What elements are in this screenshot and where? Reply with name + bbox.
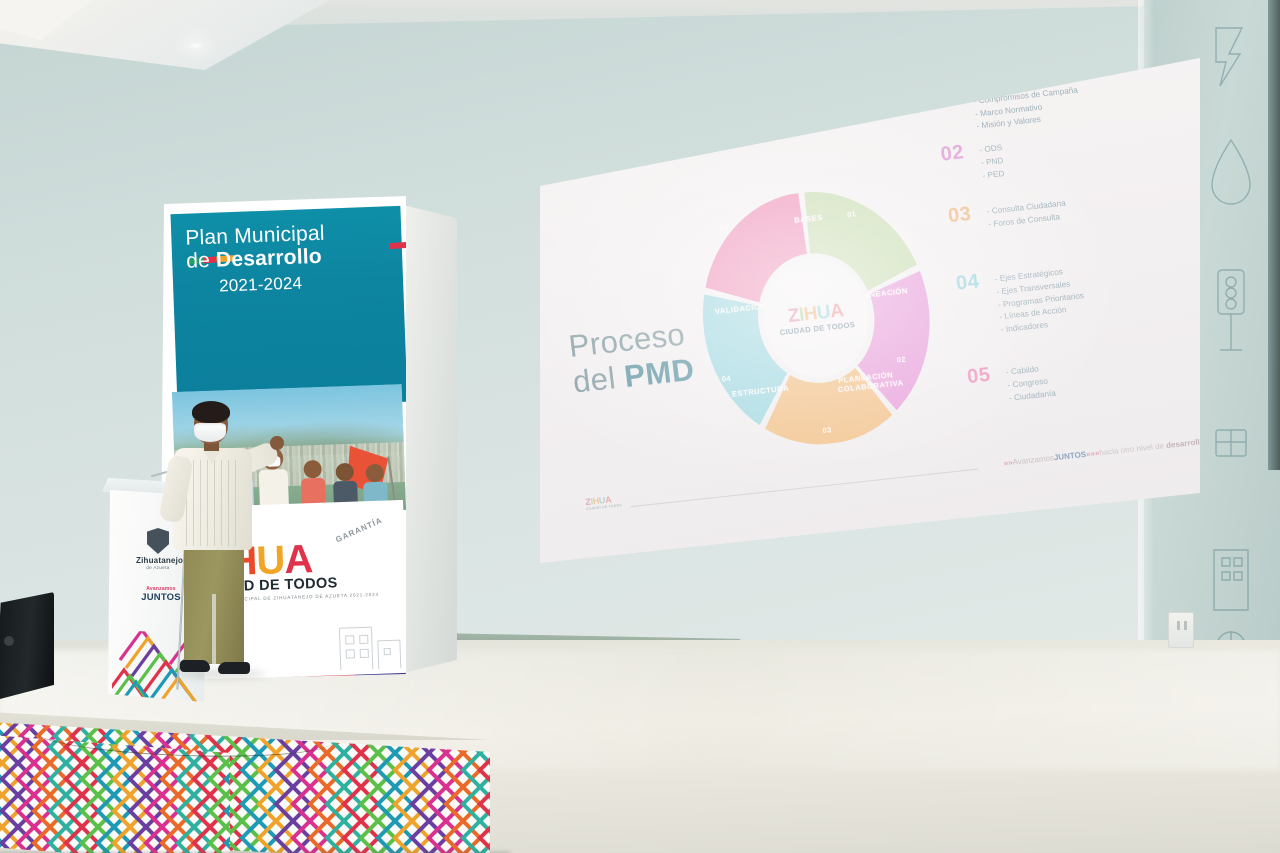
process-step-01: 01DiagnósticoCompromisos de CampañaMarco…: [932, 67, 1082, 138]
slide-title: Proceso del PMD: [567, 316, 696, 401]
process-step-number-02: 02: [939, 141, 968, 167]
footer-avanzamos: Avanzamos: [1012, 453, 1054, 466]
process-step-items-04: Ejes EstratégicosEjes TransversalesProgr…: [994, 259, 1088, 337]
process-step-number-04: 04: [955, 270, 984, 296]
donut-segment-number-02: 02: [896, 355, 906, 365]
banner-title-line2-bold: Desarrollo: [216, 245, 323, 272]
process-step-items-03: Consulta CiudadanaForos de Consulta: [986, 193, 1068, 232]
footer-rule: [630, 469, 978, 508]
process-step-number-05: 05: [966, 363, 995, 389]
speaker-leg-gap: [212, 594, 216, 664]
wordmark-letter: A: [829, 300, 845, 322]
process-step-number-01: 01: [932, 79, 961, 105]
process-step-02: 02ODSPNDPED: [939, 137, 1006, 187]
donut-segment-number-05: 05: [719, 223, 729, 233]
footer-juntos: JUNTOS: [1053, 450, 1086, 462]
slide-title-line2-plain: del: [571, 359, 626, 399]
footer-slogan: »»AvanzamosJUNTOS»»»hacia otro nivel de …: [1003, 437, 1205, 468]
slide-footer: ZIHUA CIUDAD DE TODOS »»AvanzamosJUNTOS»…: [585, 431, 1206, 524]
face-mask-icon: [194, 423, 226, 442]
banner-title: Plan Municipal de Desarrollo 2021-2024: [170, 206, 403, 298]
slide-content: Proceso del PMD BASES01ALINEACIÓN02PLANE…: [514, 34, 1222, 542]
process-step-list: 01DiagnósticoCompromisos de CampañaMarco…: [932, 57, 1206, 410]
power-outlet-icon: [1168, 612, 1194, 648]
banner-title-block: Plan Municipal de Desarrollo 2021-2024: [170, 206, 406, 410]
projection-screen: Proceso del PMD BASES01ALINEACIÓN02PLANE…: [540, 58, 1200, 563]
process-donut-chart: BASES01ALINEACIÓN02PLANEACIÓNCOLABORATIV…: [687, 181, 946, 456]
process-step-items-01: DiagnósticoCompromisos de CampañaMarco N…: [971, 67, 1082, 134]
process-step-items-02: ODSPNDPED: [978, 137, 1006, 183]
conference-hall-scene: Proceso del PMD BASES01ALINEACIÓN02PLANE…: [0, 0, 1280, 853]
speaker-person: [166, 404, 284, 694]
speaker-hair: [192, 401, 230, 423]
chevron-motif: [480, 722, 490, 753]
donut-segment-number-03: 03: [822, 425, 832, 435]
door-frame: [1268, 0, 1280, 470]
footer-logo: ZIHUA CIUDAD DE TODOS: [585, 494, 622, 511]
banner-side-panel: [399, 204, 457, 674]
donut-segment-number-04: 04: [721, 374, 731, 384]
speaker-right-shoe: [218, 662, 250, 674]
process-step-05: 05CabildoCongresoCiudadanía: [966, 357, 1057, 409]
process-step-items-05: CabildoCongresoCiudadanía: [1005, 357, 1057, 405]
stage-monitor-speaker-icon: [0, 592, 54, 700]
chevron-motif: [446, 722, 480, 753]
speaker-shirt-pleats: [186, 460, 240, 546]
banner-title-line2-plain: de: [186, 249, 217, 273]
footer-hacia: hacia otro nivel de: [1099, 441, 1167, 457]
chevron-motif: [463, 722, 490, 753]
wall-lineart-panel: [1196, 10, 1266, 670]
banner-years: 2021-2024: [187, 270, 394, 298]
process-step-item: PED: [982, 168, 1006, 183]
speaker-raised-fist: [270, 436, 284, 450]
speaker-left-shoe: [180, 660, 210, 672]
process-step-03: 03Consulta CiudadanaForos de Consulta: [947, 193, 1068, 236]
donut-segment-number-01: 01: [847, 209, 857, 219]
process-step-number-03: 03: [947, 203, 976, 229]
slide-title-line2-bold: PMD: [622, 352, 696, 394]
screen-surface: Proceso del PMD BASES01ALINEACIÓN02PLANE…: [540, 58, 1200, 563]
footer-chevrons-right: »»»: [1086, 448, 1100, 458]
process-step-04: 04Ejes EstratégicosEjes TransversalesPro…: [955, 259, 1088, 341]
downlight-icon: [188, 42, 204, 49]
footer-desarrollo: desarrollo: [1166, 437, 1206, 450]
